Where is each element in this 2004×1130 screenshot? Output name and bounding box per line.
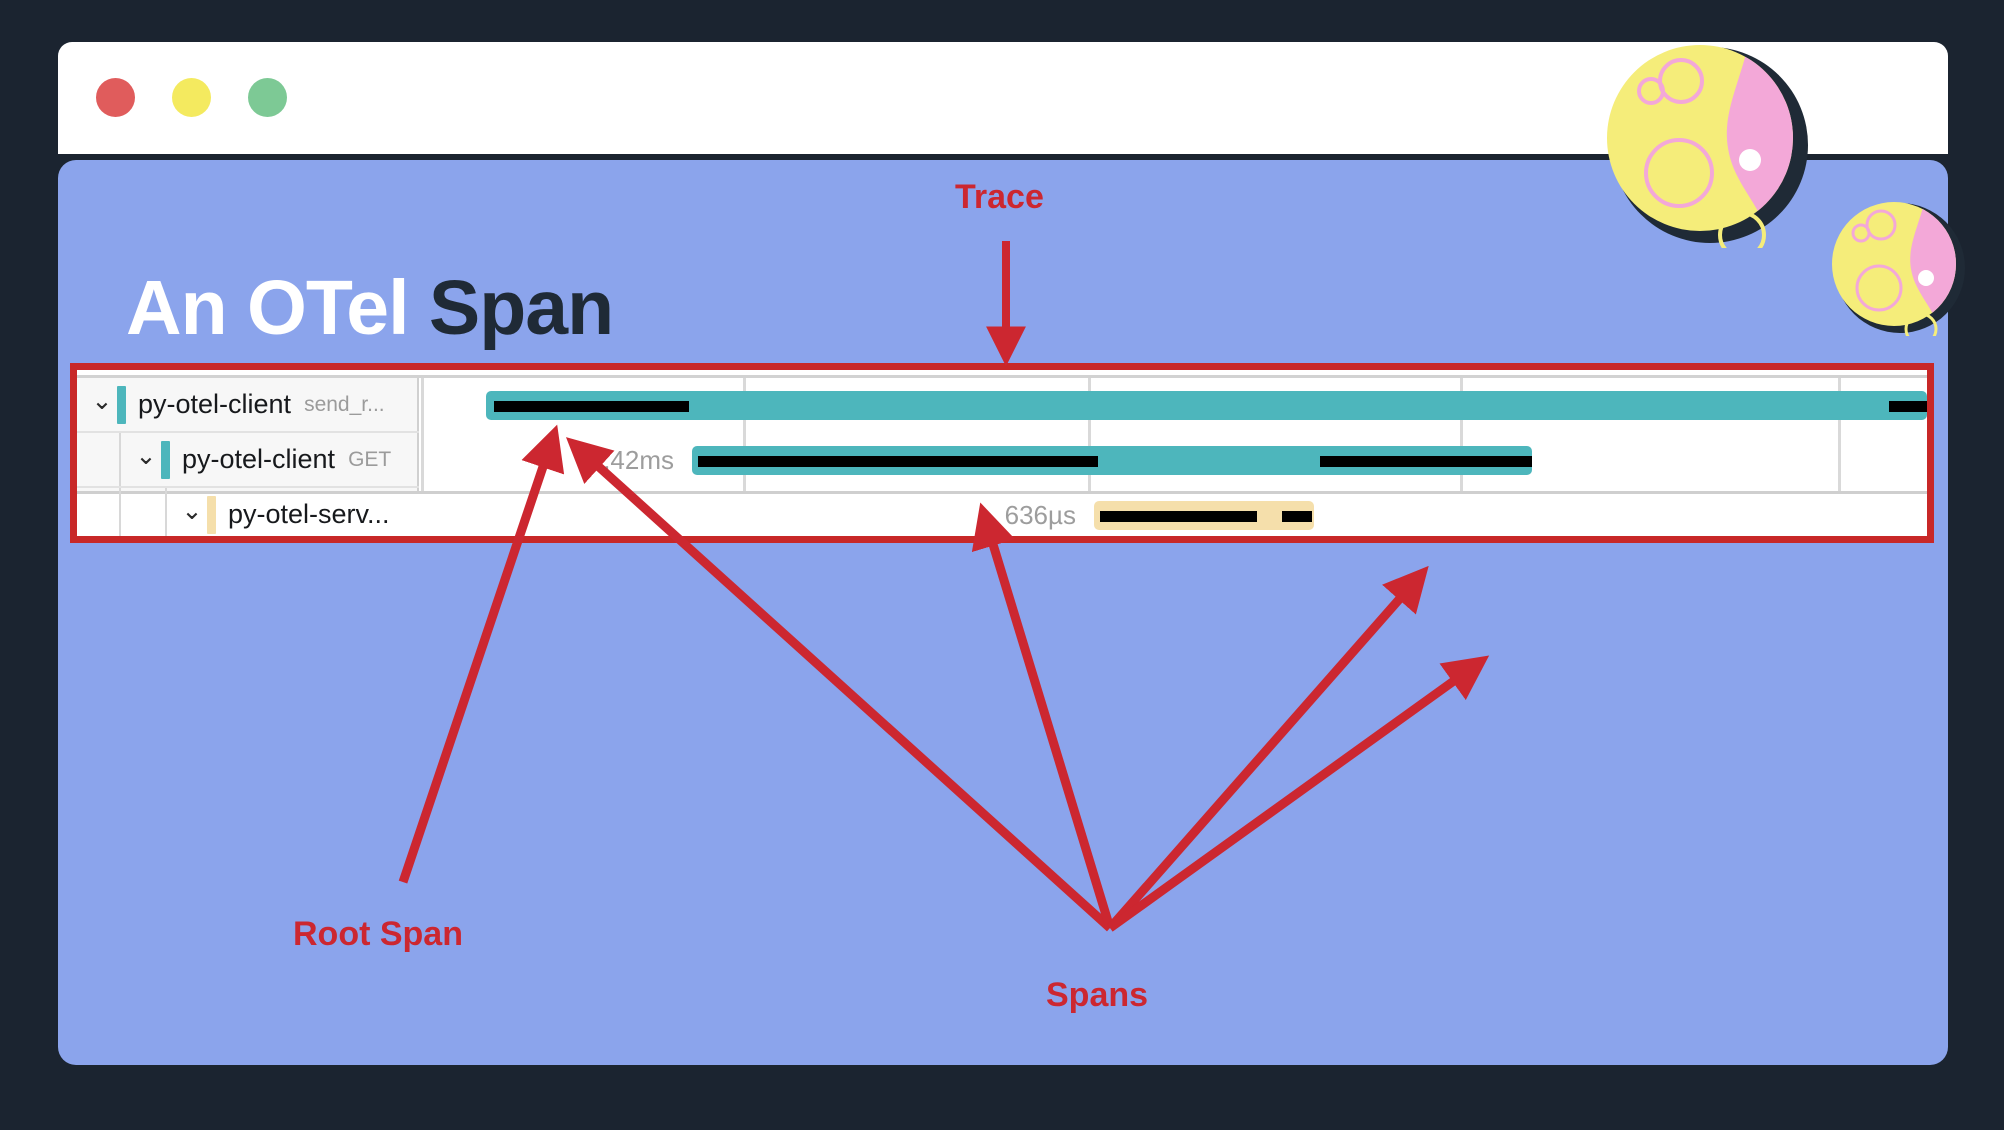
minimize-button[interactable]: [172, 78, 211, 117]
trace-waterfall-panel: 2.42ms 636µs 69µs: [70, 363, 1934, 543]
timeline-row-2[interactable]: 636µs: [421, 488, 1927, 536]
maximize-button[interactable]: [248, 78, 287, 117]
chevron-down-icon-1[interactable]: ⌄: [131, 444, 161, 469]
indent-guide-2b: [165, 488, 167, 536]
span-row-0[interactable]: ⌄ py-otel-client send_r...: [77, 378, 419, 433]
span-bar-2-inner-end: [1282, 511, 1312, 522]
span-duration-2: 636µs: [1005, 500, 1076, 531]
service-color-bar-2: [207, 496, 216, 534]
timeline-row-0[interactable]: [421, 378, 1927, 433]
span-row-1[interactable]: ⌄ py-otel-client GET: [77, 433, 419, 488]
annotation-trace-label: Trace: [955, 178, 1044, 217]
span-bar-0[interactable]: [486, 391, 1927, 420]
span-row-2[interactable]: ⌄ py-otel-serv...: [77, 488, 419, 536]
trace-timeline: 2.42ms 636µs 69µs: [421, 378, 1927, 491]
timeline-row-1[interactable]: 2.42ms: [421, 433, 1927, 488]
service-color-bar-0: [117, 386, 126, 424]
indent-guide-1: [119, 433, 121, 486]
annotation-root-span-label: Root Span: [293, 915, 463, 954]
chevron-down-icon-0[interactable]: ⌄: [87, 389, 117, 414]
span-bar-0-inner-end: [1889, 401, 1927, 412]
close-button[interactable]: [96, 78, 135, 117]
page-title-dark: Span: [429, 265, 613, 351]
page-title: An OTel Span: [126, 270, 613, 347]
chevron-down-icon-2[interactable]: ⌄: [177, 499, 207, 524]
trace-waterfall-inner: 2.42ms 636µs 69µs: [77, 370, 1927, 536]
span-bar-0-inner: [494, 401, 689, 412]
span-service-2: py-otel-serv...: [228, 499, 390, 530]
annotation-spans-label: Spans: [1046, 976, 1148, 1015]
span-bar-1[interactable]: [692, 446, 1532, 475]
span-duration-1: 2.42ms: [589, 445, 674, 476]
window-controls: [96, 78, 287, 117]
span-service-0: py-otel-client: [138, 389, 291, 420]
span-operation-1: GET: [348, 448, 391, 472]
span-service-1: py-otel-client: [182, 444, 335, 475]
decorative-moon-small: [1826, 196, 1966, 336]
span-operation-0: send_r...: [304, 393, 385, 417]
service-color-bar-1: [161, 441, 170, 479]
span-bar-2[interactable]: [1094, 501, 1314, 530]
span-name-column: ⌄ py-otel-client send_r... ⌄ py-otel-cli…: [77, 378, 419, 491]
page-title-light: An OTel: [126, 265, 429, 351]
span-bar-2-inner: [1100, 511, 1257, 522]
span-bar-1-inner: [698, 456, 1098, 467]
decorative-moon-large: [1600, 38, 1810, 248]
indent-guide-2a: [119, 488, 121, 536]
span-bar-1-inner-end: [1320, 456, 1532, 467]
